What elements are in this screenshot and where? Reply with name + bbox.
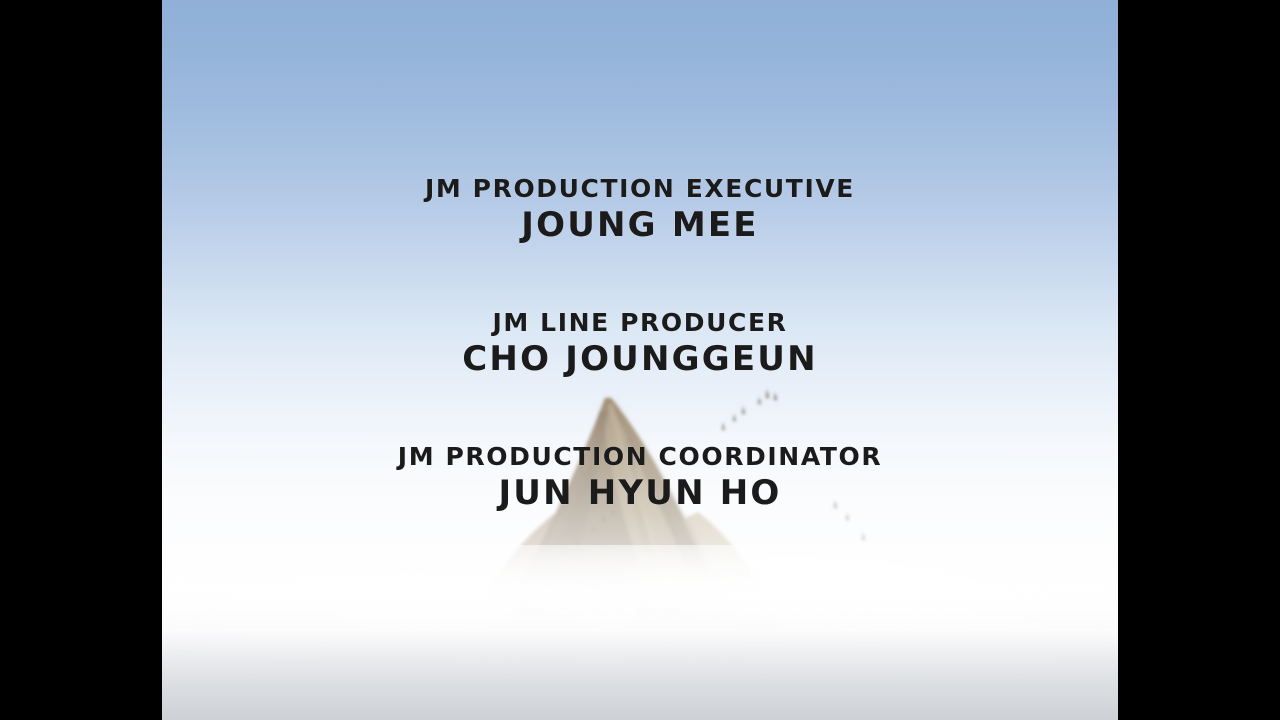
pillarbox-right bbox=[1118, 0, 1280, 720]
video-frame: JM PRODUCTION EXECUTIVE JOUNG MEE JM LIN… bbox=[0, 0, 1280, 720]
credit-block-2: JM LINE PRODUCER CHO JOUNGGEUN bbox=[162, 310, 1118, 379]
credit-name-1: JOUNG MEE bbox=[162, 206, 1118, 245]
pillarbox-left bbox=[0, 0, 162, 720]
film-image-area: JM PRODUCTION EXECUTIVE JOUNG MEE JM LIN… bbox=[162, 0, 1118, 720]
credit-name-3: JUN HYUN HO bbox=[162, 474, 1118, 513]
credit-role-2: JM LINE PRODUCER bbox=[162, 310, 1118, 336]
credit-role-1: JM PRODUCTION EXECUTIVE bbox=[162, 176, 1118, 202]
credit-block-3: JM PRODUCTION COORDINATOR JUN HYUN HO bbox=[162, 444, 1118, 513]
credit-name-2: CHO JOUNGGEUN bbox=[162, 340, 1118, 379]
credit-role-3: JM PRODUCTION COORDINATOR bbox=[162, 444, 1118, 470]
credit-block-1: JM PRODUCTION EXECUTIVE JOUNG MEE bbox=[162, 176, 1118, 245]
